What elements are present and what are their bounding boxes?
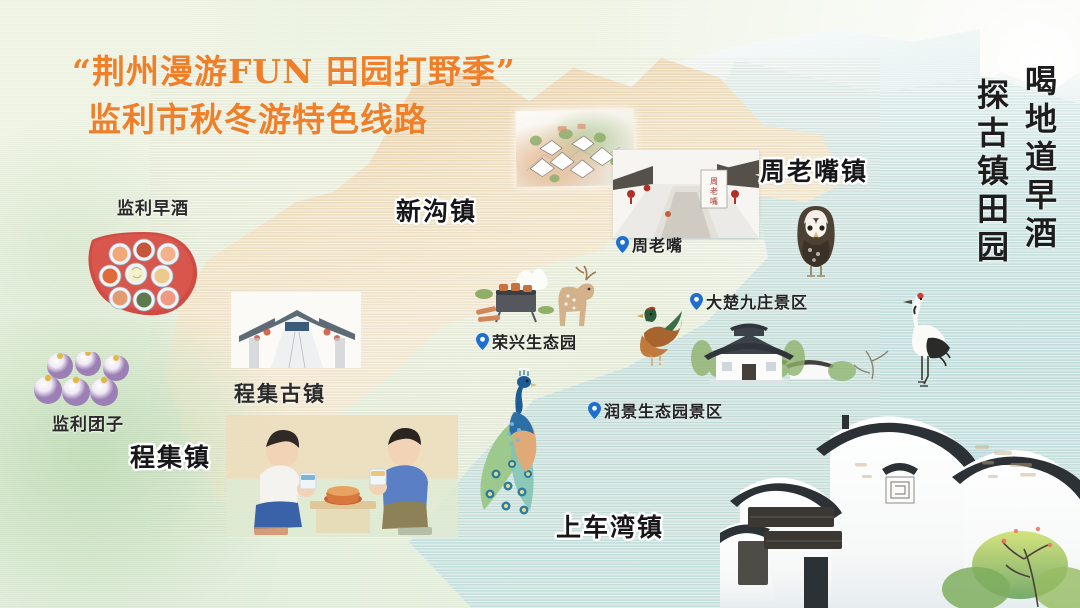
specialty-label-early-wine: 监利早酒 (117, 194, 189, 219)
deer-and-bbq-illustration (470, 258, 596, 328)
specialty-label-tuanzi: 监利团子 (52, 410, 124, 435)
svg-text:周: 周 (710, 177, 718, 186)
vertical-slogan-right: 喝地道早酒 (1016, 64, 1062, 254)
town-label-zhoulaozui[interactable]: 周老嘴镇 (760, 152, 868, 188)
early-wine-tray-illustration (76, 222, 200, 318)
attraction-label: 荣兴生态园 (492, 329, 577, 353)
pheasant-illustration (628, 305, 684, 374)
attraction-runjing-eco-park[interactable]: 润景生态园景区 (588, 398, 723, 422)
map-pin-icon (588, 402, 601, 419)
attraction-label: 周老嘴 (632, 232, 683, 256)
chengji-ancient-town-illustration (231, 292, 361, 368)
vertical-slogan-left: 探古镇田园 (968, 78, 1014, 268)
map-pin-icon (476, 333, 489, 350)
attraction-label: 大楚九庄景区 (706, 289, 808, 313)
attraction-rongxing-eco-park[interactable]: 荣兴生态园 (476, 329, 577, 353)
title-line-1: “荆州漫游FUN 田园打野季” (72, 48, 516, 96)
attraction-zhoulaozui[interactable]: 周老嘴 (616, 232, 683, 256)
attraction-dachu-jiuzhuang[interactable]: 大楚九庄景区 (690, 289, 808, 313)
crane-illustration (898, 290, 952, 395)
page-title: “荆州漫游FUN 田园打野季” 监利市秋冬游特色线路 (72, 48, 516, 144)
map-pin-icon (690, 293, 703, 310)
zhoulaozui-street-illustration: 周 老 嘴 (613, 150, 759, 238)
tourism-map-poster: 周 老 嘴 (0, 0, 1080, 608)
title-line-2: 监利市秋冬游特色线路 (88, 96, 516, 144)
owl-illustration (790, 200, 842, 283)
peacock-illustration (472, 368, 556, 523)
town-label-xingou[interactable]: 新沟镇 (396, 192, 477, 228)
tuanzi-dumplings-illustration (32, 352, 142, 416)
map-pin-icon (616, 236, 629, 253)
two-men-drinking-illustration (226, 415, 458, 537)
town-label-chengji[interactable]: 程集镇 (130, 438, 211, 474)
svg-text:嘴: 嘴 (710, 196, 718, 206)
svg-text:老: 老 (710, 186, 718, 196)
dachu-jiuzhuang-house-illustration (690, 320, 808, 384)
specialty-label-chengji-ancient-town: 程集古镇 (234, 378, 326, 408)
attraction-label: 润景生态园景区 (604, 398, 723, 422)
town-label-shangchewan[interactable]: 上车湾镇 (556, 508, 664, 544)
